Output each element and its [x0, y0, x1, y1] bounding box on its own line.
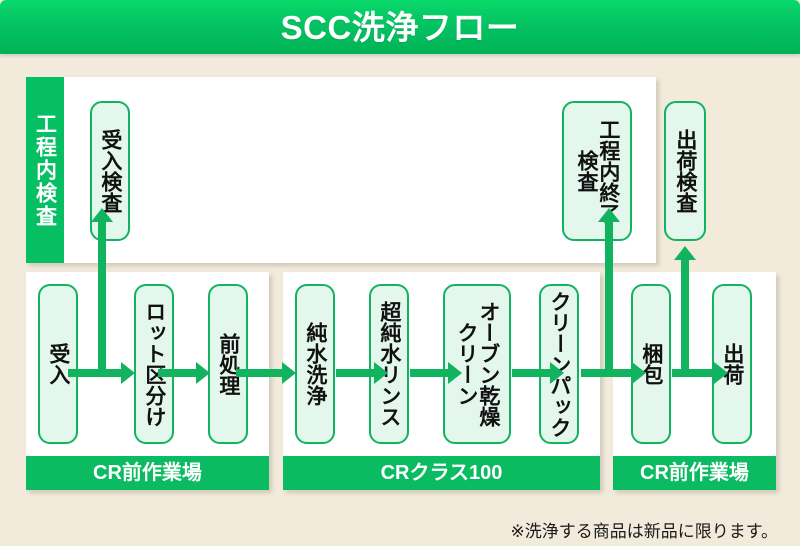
page-title: SCC洗浄フロー [281, 11, 520, 44]
group-footer-left: CR前作業場 [26, 456, 269, 490]
group-cr-pre-work-area-left: 受入 ロット区分け 前処理 CR前作業場 [26, 272, 269, 490]
group-footer-right: CR前作業場 [613, 456, 776, 490]
group-footer-middle-label: CRクラス100 [381, 463, 503, 483]
arrow-up-to-receiving-inspection [91, 208, 113, 373]
group-footer-middle: CRクラス100 [283, 456, 600, 490]
process-end-inspection-box[interactable]: 工程内終了 検査 [562, 101, 632, 241]
group-footer-right-label: CR前作業場 [640, 463, 749, 483]
arrow-pretreatment-to-pure-water-wash [236, 362, 296, 384]
arrow-pure-water-wash-to-ultrapure-rinse [336, 362, 388, 384]
step-pure-water-wash-box[interactable]: 純水洗浄 [295, 284, 335, 444]
step-clean-oven-dry-col-0: オーブン乾燥 [477, 291, 499, 437]
inspection-panel-side-label: 工程内検査 [26, 77, 64, 263]
shipping-inspection-box[interactable]: 出荷検査 [664, 101, 706, 241]
step-receiving-label: 受入 [47, 291, 69, 437]
process-end-inspection-col-1: 検査 [575, 108, 597, 234]
arrow-ultrapure-rinse-to-clean-oven-dry [410, 362, 462, 384]
arrow-lot-sorting-to-pretreatment [158, 362, 210, 384]
step-pure-water-wash-label: 純水洗浄 [304, 291, 326, 437]
inspection-panel: 工程内検査 受入検査 工程内終了 検査 [26, 77, 656, 263]
inspection-panel-side-label-text: 工程内検査 [35, 113, 56, 228]
group-footer-left-label: CR前作業場 [93, 463, 202, 483]
arrow-up-to-process-end-inspection [598, 208, 620, 373]
arrow-up-to-shipping-inspection [674, 246, 696, 373]
arrow-clean-oven-dry-to-clean-pack [512, 362, 564, 384]
shipping-inspection-col-0: 出荷検査 [674, 108, 696, 234]
title-banner: SCC洗浄フロー [0, 0, 800, 54]
footnote: ※洗浄する商品は新品に限ります。 [510, 523, 778, 540]
